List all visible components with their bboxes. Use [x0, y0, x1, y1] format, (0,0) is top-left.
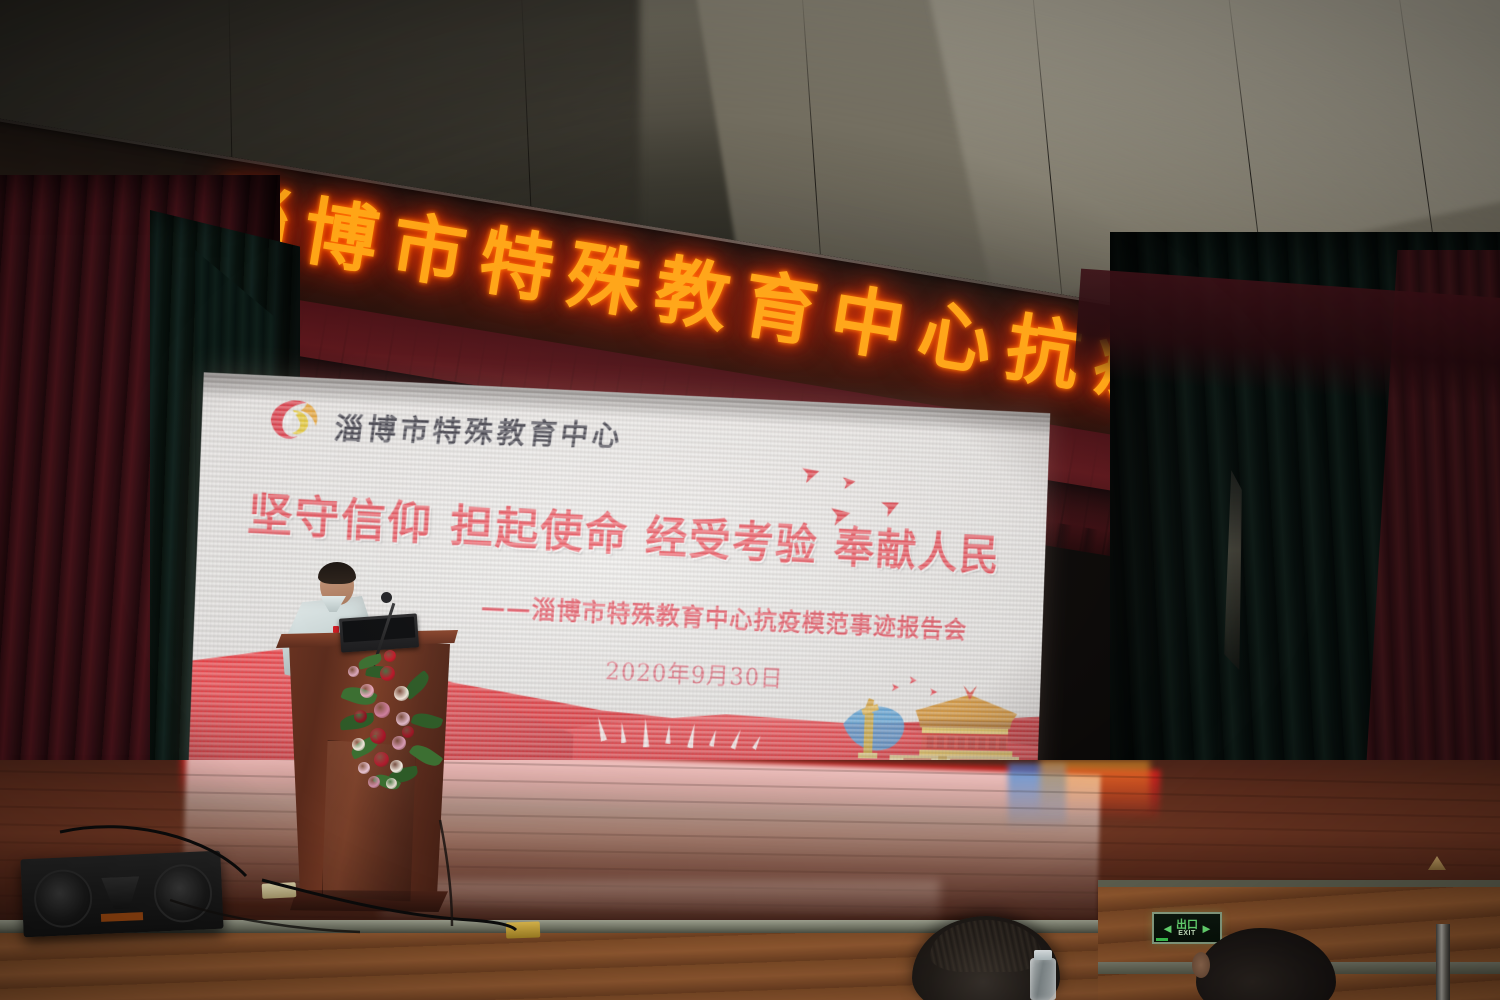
audience-ear-right	[1192, 952, 1210, 978]
exit-indicator-led	[1156, 938, 1168, 941]
monitor-label	[101, 912, 143, 922]
flower-bloom	[370, 728, 386, 744]
horn-tweeter-icon	[101, 876, 140, 910]
flower-bloom	[390, 760, 403, 773]
flower-bloom	[380, 666, 395, 681]
speaker-badge	[333, 626, 339, 633]
flower-bloom	[384, 650, 396, 662]
dove-icon: ➤	[798, 458, 823, 487]
flower-bloom	[394, 686, 409, 701]
exit-text-en: EXIT	[1178, 930, 1196, 937]
flower-bloom	[358, 762, 370, 774]
auditorium-stage-photo: 淄博市特殊教育中心抗疫模范事迹报告会 淄博市特殊教育中心	[0, 0, 1500, 1000]
flower-leaf	[411, 710, 444, 733]
metal-pole	[1436, 924, 1450, 1000]
water-bottle	[1030, 958, 1056, 1000]
microphone-head	[381, 592, 392, 603]
exit-sign: ◄ 出口 EXIT ►	[1152, 912, 1222, 944]
arrow-left-icon: ◄	[1161, 922, 1174, 935]
slide-subtitle: ——淄博市特殊教育中心抗疫模范事迹报告会	[480, 587, 968, 646]
flower-bloom	[374, 702, 390, 718]
flower-bloom	[402, 726, 414, 738]
slide-date: 2020年9月30日	[604, 652, 784, 694]
flower-bloom	[392, 736, 406, 750]
woofer-icon	[33, 868, 93, 928]
laptop-screen	[342, 617, 415, 643]
exit-text-cn: 出口	[1176, 919, 1198, 930]
flower-bloom	[386, 778, 397, 789]
flower-bloom	[348, 666, 359, 677]
exit-text-block: 出口 EXIT	[1176, 919, 1198, 937]
flower-bloom	[360, 684, 374, 698]
flower-bloom	[374, 752, 389, 767]
flower-bloom	[354, 710, 367, 723]
stage-monitor-speaker	[20, 851, 223, 938]
water-bottle-cap	[1034, 950, 1052, 960]
flower-bloom	[396, 712, 410, 726]
back-wall-top-trim	[1098, 880, 1500, 887]
woofer-icon	[153, 863, 213, 923]
dove-icon: ➤	[840, 472, 857, 493]
power-strip	[506, 921, 541, 938]
arrow-right-icon: ►	[1200, 922, 1213, 935]
power-strip	[262, 882, 297, 899]
flower-bloom	[368, 776, 380, 788]
flower-bloom	[352, 738, 365, 751]
flower-arrangement	[340, 648, 440, 788]
